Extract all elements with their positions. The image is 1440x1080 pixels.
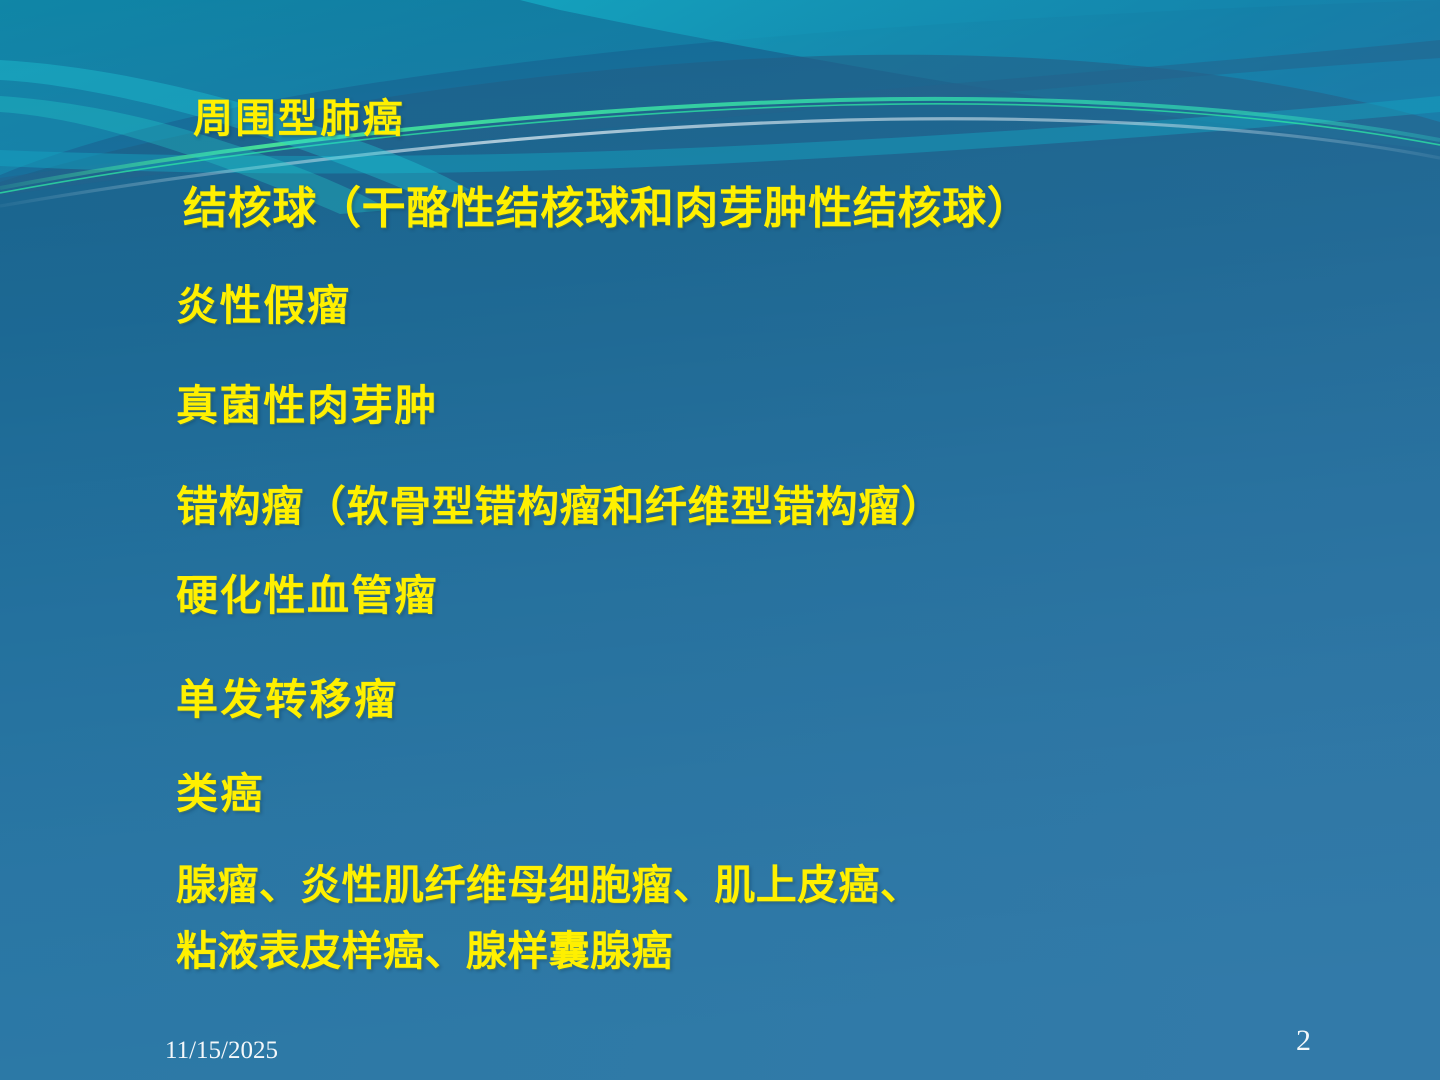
body-line-10: 粘液表皮样癌、腺样囊腺癌: [176, 917, 673, 977]
body-line-6: 硬化性血管瘤: [176, 562, 438, 623]
body-line-1: 周围型肺癌: [193, 86, 405, 144]
body-line-2: 结核球（干酪性结核球和肉芽肿性结核球）: [183, 172, 1032, 236]
slide-date: 11/15/2025: [165, 1037, 278, 1065]
body-line-3: 炎性假瘤: [176, 272, 351, 333]
body-line-7: 单发转移瘤: [176, 666, 399, 727]
body-line-8: 类癌: [176, 760, 265, 821]
body-line-5: 错构瘤（软骨型错构瘤和纤维型错构瘤）: [176, 473, 943, 534]
slide-page-number: 2: [1296, 1024, 1311, 1058]
slide-body-text: 周围型肺癌 结核球（干酪性结核球和肉芽肿性结核球） 炎性假瘤 真菌性肉芽肿 错构…: [0, 0, 1440, 1010]
presentation-slide: 周围型肺癌 结核球（干酪性结核球和肉芽肿性结核球） 炎性假瘤 真菌性肉芽肿 错构…: [0, 0, 1440, 1080]
body-line-9: 腺瘤、炎性肌纤维母细胞瘤、肌上皮癌、: [176, 851, 921, 911]
body-line-4: 真菌性肉芽肿: [176, 372, 438, 433]
